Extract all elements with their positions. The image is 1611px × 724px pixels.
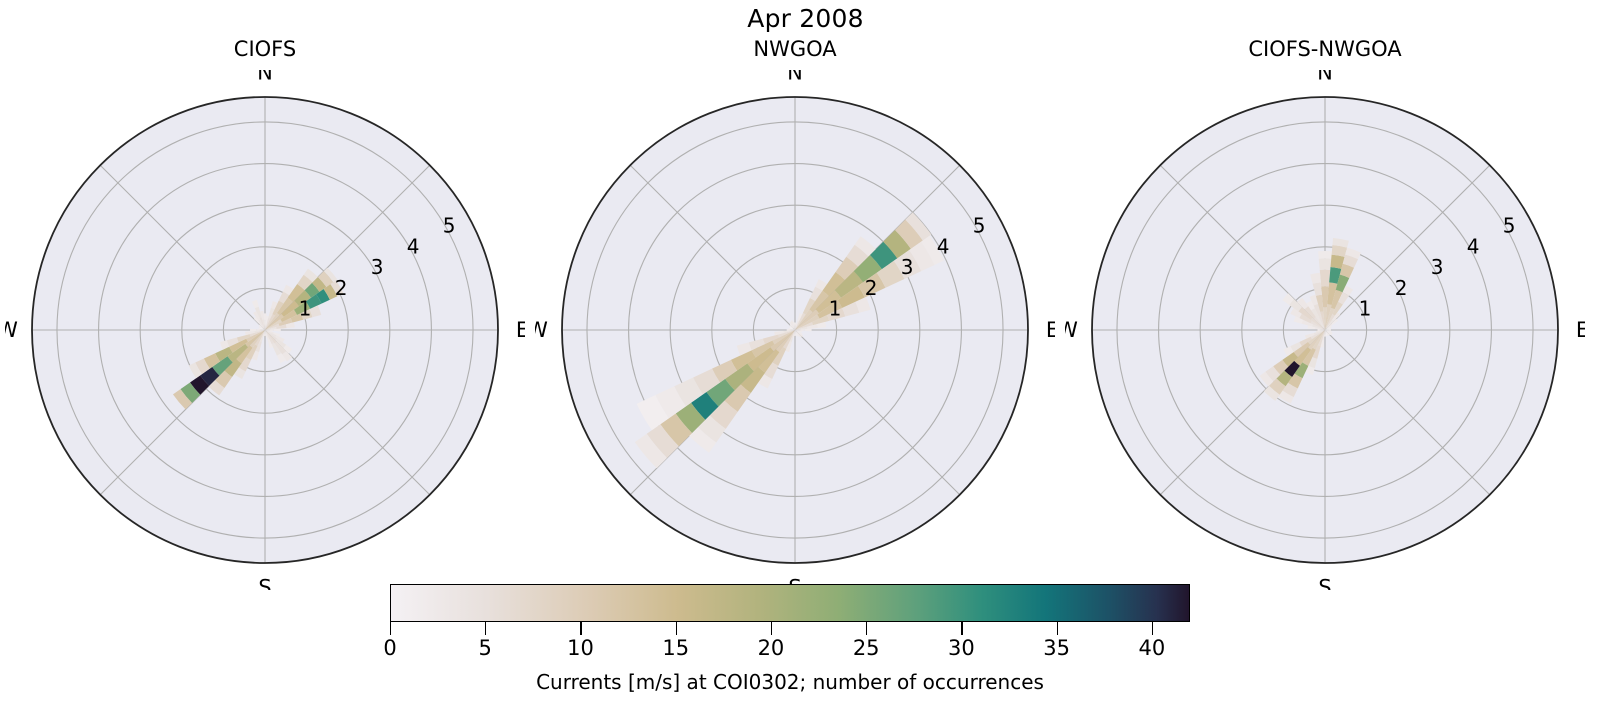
radial-tick-label: 3 bbox=[901, 255, 914, 279]
colorbar-tick-labels: 0510152025303540 bbox=[390, 636, 1190, 662]
radial-tick-label: 4 bbox=[937, 234, 950, 258]
panel-title-nwgoa: NWGOA bbox=[535, 37, 1055, 61]
radial-tick-label: 4 bbox=[1467, 234, 1480, 258]
radial-tick-label: 2 bbox=[865, 276, 878, 300]
rose-plot-ciofs: 12345NESW bbox=[5, 70, 525, 590]
colorbar-axis-label: Currents [m/s] at COI0302; number of occ… bbox=[390, 670, 1190, 694]
colorbar-tick bbox=[485, 622, 486, 635]
radial-tick-label: 3 bbox=[1431, 255, 1444, 279]
panel-title-ciofs-nwgoa: CIOFS-NWGOA bbox=[1065, 37, 1585, 61]
radial-tick-label: 5 bbox=[443, 213, 456, 237]
colorbar-ticks bbox=[390, 622, 1190, 636]
colorbar-tick-label: 30 bbox=[948, 636, 975, 660]
polar-panel-ciofs-nwgoa: CIOFS-NWGOA 12345NESW bbox=[1065, 70, 1585, 590]
compass-label-n: N bbox=[787, 70, 803, 85]
colorbar-tick-label: 40 bbox=[1139, 636, 1166, 660]
radial-tick-label: 1 bbox=[299, 297, 312, 321]
figure-suptitle: Apr 2008 bbox=[0, 4, 1611, 33]
radial-tick-label: 2 bbox=[335, 276, 348, 300]
rose-plot-ciofs-nwgoa: 12345NESW bbox=[1065, 70, 1585, 590]
colorbar-tick bbox=[1152, 622, 1153, 635]
colorbar-tick-label: 5 bbox=[479, 636, 492, 660]
colorbar-tick bbox=[961, 622, 962, 635]
compass-label-w: W bbox=[535, 318, 548, 342]
compass-label-e: E bbox=[1046, 318, 1055, 342]
colorbar-tick-label: 15 bbox=[662, 636, 689, 660]
colorbar: 0510152025303540 bbox=[390, 584, 1190, 662]
colorbar-tick bbox=[771, 622, 772, 635]
colorbar-tick bbox=[1057, 622, 1058, 635]
rose-bar-segment bbox=[1318, 251, 1332, 259]
rose-bar-segment bbox=[1320, 270, 1331, 287]
compass-label-w: W bbox=[1065, 318, 1078, 342]
compass-label-s: S bbox=[258, 575, 271, 590]
compass-label-n: N bbox=[1317, 70, 1333, 85]
compass-label-w: W bbox=[5, 318, 18, 342]
compass-label-e: E bbox=[516, 318, 525, 342]
radial-tick-label: 5 bbox=[1503, 213, 1516, 237]
figure-canvas: Apr 2008 CIOFS 12345NESW NWGOA 12345NESW… bbox=[0, 0, 1611, 724]
radial-tick-label: 4 bbox=[407, 234, 420, 258]
radial-tick-label: 3 bbox=[371, 255, 384, 279]
polar-panel-nwgoa: NWGOA 12345NESW bbox=[535, 70, 1055, 590]
colorbar-gradient bbox=[390, 584, 1190, 622]
rose-bar-segment bbox=[1319, 258, 1331, 269]
compass-label-n: N bbox=[257, 70, 273, 85]
colorbar-tick-label: 0 bbox=[383, 636, 396, 660]
colorbar-tick bbox=[390, 622, 391, 635]
rose-plot-nwgoa: 12345NESW bbox=[535, 70, 1055, 590]
panel-title-ciofs: CIOFS bbox=[5, 37, 525, 61]
colorbar-tick bbox=[676, 622, 677, 635]
colorbar-tick-label: 25 bbox=[853, 636, 880, 660]
polar-panel-ciofs: CIOFS 12345NESW bbox=[5, 70, 525, 590]
colorbar-tick bbox=[580, 622, 581, 635]
compass-label-s: S bbox=[1318, 575, 1331, 590]
colorbar-tick bbox=[866, 622, 867, 635]
radial-tick-label: 1 bbox=[1359, 297, 1372, 321]
colorbar-tick-label: 35 bbox=[1043, 636, 1070, 660]
radial-tick-label: 1 bbox=[829, 297, 842, 321]
colorbar-tick-label: 10 bbox=[567, 636, 594, 660]
radial-tick-label: 5 bbox=[973, 213, 986, 237]
radial-tick-label: 2 bbox=[1395, 276, 1408, 300]
compass-label-e: E bbox=[1576, 318, 1585, 342]
colorbar-tick-label: 20 bbox=[758, 636, 785, 660]
